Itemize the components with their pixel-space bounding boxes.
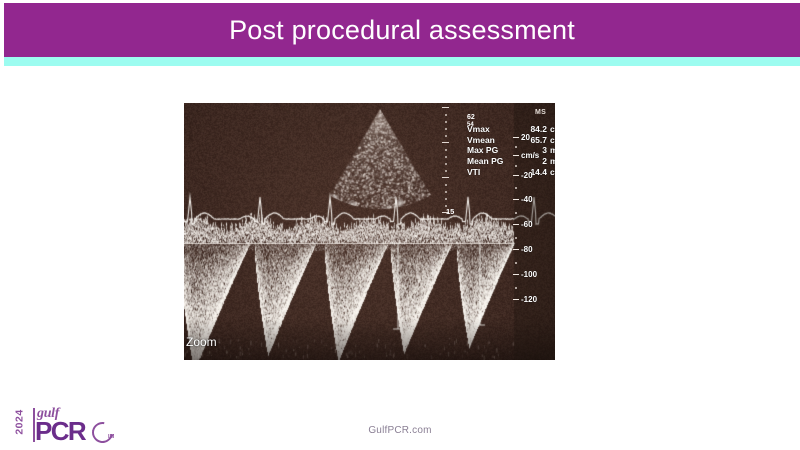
gulfpcr-logo: 2024 gulf PCR IM bbox=[16, 406, 126, 446]
measurement-label: Vmax bbox=[467, 125, 517, 134]
sector-ruler-mark bbox=[445, 149, 447, 151]
sector-ruler-mark bbox=[445, 114, 447, 116]
scale-minor-dot bbox=[515, 212, 517, 214]
sector-ruler-mark bbox=[445, 191, 447, 193]
scale-tick bbox=[513, 274, 519, 275]
measurement-label: Mean PG bbox=[467, 157, 517, 166]
scale-minor-dot bbox=[515, 287, 517, 289]
logo-pcr-text: PCR bbox=[35, 418, 85, 444]
scale-label: cm/s bbox=[521, 151, 539, 160]
scale-tick bbox=[513, 155, 519, 156]
accent-divider-bar bbox=[4, 57, 800, 66]
page-title: Post procedural assessment bbox=[229, 17, 575, 44]
measurement-label: Max PG bbox=[467, 146, 517, 155]
sector-ruler-mark bbox=[445, 170, 447, 172]
sector-ruler-mark bbox=[442, 142, 449, 143]
scale-minor-dot bbox=[515, 146, 517, 148]
scale-tick bbox=[513, 199, 519, 200]
logo-im-text: IM bbox=[108, 434, 115, 440]
scale-minor-dot bbox=[515, 237, 517, 239]
sector-ruler-mark bbox=[445, 121, 447, 123]
scale-minor-dot bbox=[515, 165, 517, 167]
sector-depth-label: 15 bbox=[446, 207, 454, 216]
sector-ruler-mark bbox=[445, 128, 447, 130]
echo-depth-label: 62 bbox=[467, 114, 475, 121]
sector-ruler-mark bbox=[442, 177, 449, 178]
scale-tick bbox=[513, 249, 519, 250]
scale-minor-dot bbox=[515, 262, 517, 264]
sector-ruler-mark bbox=[445, 135, 447, 137]
scale-tick bbox=[513, 299, 519, 300]
logo-year: 2024 bbox=[14, 409, 26, 434]
scale-label: -120 bbox=[521, 295, 537, 304]
scale-label: -80 bbox=[521, 245, 533, 254]
slide-title-bar: Post procedural assessment bbox=[4, 3, 800, 57]
sector-ruler-mark bbox=[445, 184, 447, 186]
zoom-label: Zoom bbox=[186, 335, 217, 349]
scale-label: 20 bbox=[521, 133, 530, 142]
velocity-scale: 20cm/s-20-40-60-80-100-120 bbox=[513, 103, 553, 360]
sector-ruler-mark bbox=[442, 107, 449, 108]
sector-depth-ruler bbox=[440, 107, 454, 217]
sector-ruler-mark bbox=[445, 198, 447, 200]
logo-circle-mark-icon bbox=[88, 418, 117, 447]
scale-label: -100 bbox=[521, 270, 537, 279]
scale-label: -40 bbox=[521, 195, 533, 204]
echocardiogram-image: 15 MS 62 54 Vmax84.2cm/sVmean65.7cm/sMax… bbox=[184, 103, 555, 360]
scale-label: -20 bbox=[521, 171, 533, 180]
sector-ruler-mark bbox=[445, 156, 447, 158]
scale-tick bbox=[513, 137, 519, 138]
scale-tick bbox=[513, 175, 519, 176]
measurement-label: Vmean bbox=[467, 136, 517, 145]
scale-minor-dot bbox=[515, 187, 517, 189]
sector-ruler-mark bbox=[445, 163, 447, 165]
measurement-label: VTI bbox=[467, 168, 517, 177]
scale-tick bbox=[513, 224, 519, 225]
scale-label: -60 bbox=[521, 220, 533, 229]
